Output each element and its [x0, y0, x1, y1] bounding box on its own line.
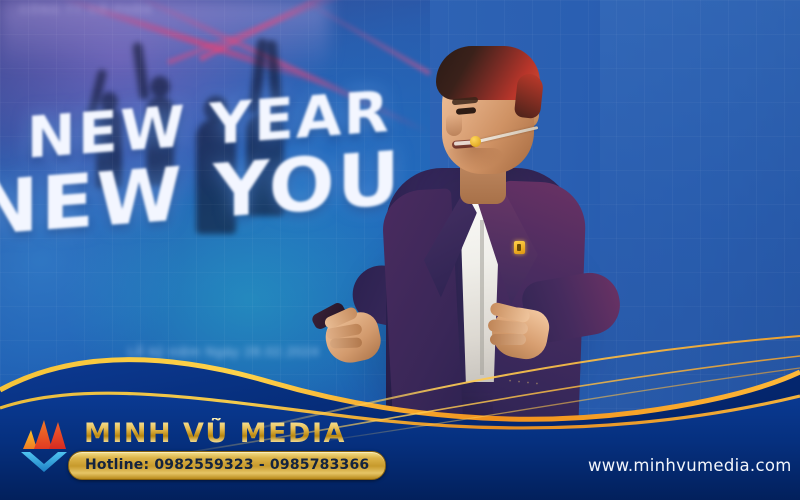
hotline-badge[interactable]: Hotline: 0982559323 - 0985783366 — [68, 451, 386, 480]
logo-m-stroke-mid — [34, 420, 52, 449]
led-caption-top: CÔNG TY CỔ PHẦN — [20, 4, 320, 40]
shirt-placket — [480, 220, 484, 375]
logo-m-stroke-right — [49, 422, 66, 449]
brand-name-text: MINH VŨ MEDIA — [84, 418, 346, 449]
hotline-text: Hotline: 0982559323 - 0985783366 — [85, 457, 369, 473]
speaker-hair-side — [514, 73, 544, 119]
screenshot-canvas: CÔNG TY CỔ PHẦN NEW YEAR NEW YOU Lễ kỷ n… — [0, 0, 800, 500]
minh-vu-media-logo-icon[interactable] — [16, 408, 74, 474]
speaker-left-finger — [330, 337, 362, 348]
speaker-nose — [446, 114, 462, 136]
logo-m-stroke-left — [23, 430, 37, 449]
speaker-right-finger — [490, 334, 526, 345]
website-url-text[interactable]: www.minhvumedia.com — [588, 456, 792, 475]
speaker-chin-shadow — [444, 148, 504, 170]
headset-mic-capsule-icon — [470, 136, 481, 147]
lapel-pin-mark — [517, 244, 521, 251]
logo-v-chevron — [21, 452, 67, 472]
speaker-figure — [300, 40, 640, 440]
